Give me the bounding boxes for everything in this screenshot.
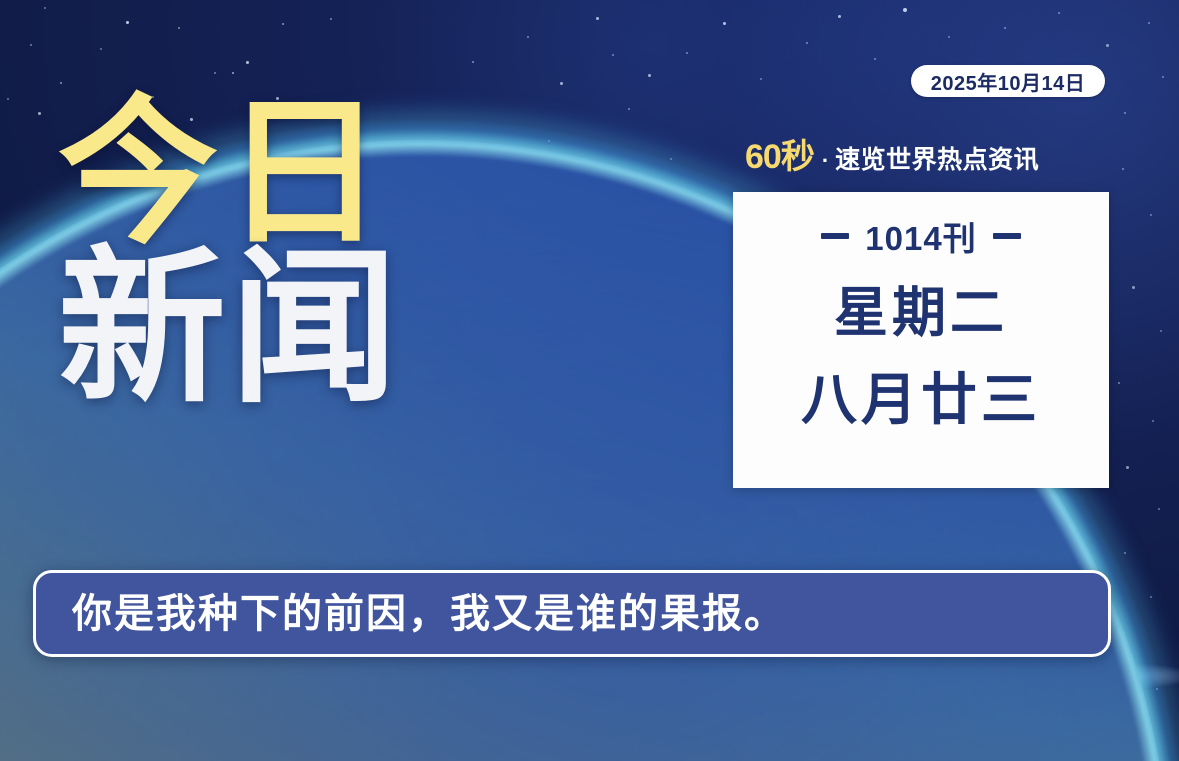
dash-left-icon — [821, 233, 849, 239]
issue-number-row: 1014刊 — [821, 212, 1020, 260]
weekday-label: 星期二 — [834, 286, 1008, 340]
quote-text: 你是我种下的前因，我又是谁的果报。 — [72, 594, 786, 634]
lunar-date-label: 八月廿三 — [801, 372, 1041, 428]
title-line-1: 今日 — [58, 95, 488, 252]
dash-right-icon — [993, 233, 1021, 239]
title-line-2: 新闻 — [58, 246, 488, 411]
tagline: 60秒 · 速览世界热点资讯 — [745, 140, 1110, 174]
tagline-highlight: 60秒 — [745, 140, 814, 174]
date-badge: 2025年10月14日 — [911, 65, 1105, 97]
issue-number: 1014刊 — [865, 212, 976, 260]
tagline-text: 速览世界热点资讯 — [835, 148, 1039, 173]
tagline-separator: · — [822, 150, 829, 172]
poster-title: 今日 新闻 — [58, 95, 488, 410]
poster-canvas: 2025年10月14日 60秒 · 速览世界热点资讯 1014刊 星期二 八月廿… — [0, 0, 1179, 761]
poster-content: 2025年10月14日 60秒 · 速览世界热点资讯 1014刊 星期二 八月廿… — [0, 0, 1179, 761]
quote-bar: 你是我种下的前因，我又是谁的果报。 — [33, 570, 1111, 657]
issue-info-card: 1014刊 星期二 八月廿三 — [733, 192, 1109, 488]
